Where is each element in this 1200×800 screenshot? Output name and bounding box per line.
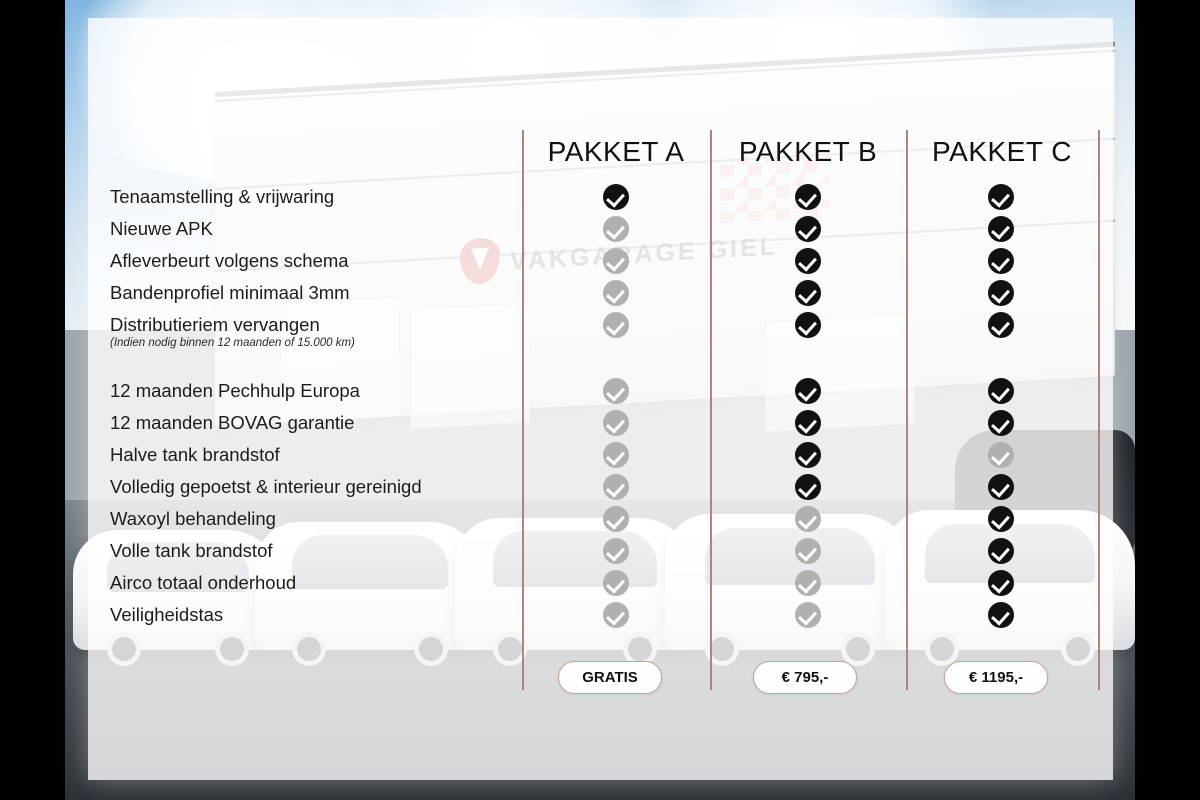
check-included-icon: [795, 312, 821, 338]
check-cell: [961, 213, 1041, 245]
check-included-icon: [988, 248, 1014, 274]
check-cell: [576, 567, 656, 599]
feature-label-column: Tenaamstelling & vrijwaring Nieuwe APK A…: [110, 181, 530, 631]
check-cell: [768, 439, 848, 471]
check-excluded-icon: [603, 248, 629, 274]
feature-footnote: (Indien nodig binnen 12 maanden of 15.00…: [110, 337, 530, 349]
check-cell: [961, 567, 1041, 599]
check-included-icon: [988, 410, 1014, 436]
feature-label: Afleverbeurt volgens schema: [110, 245, 530, 277]
feature-label: Volle tank brandstof: [110, 535, 530, 567]
check-excluded-icon: [795, 538, 821, 564]
check-excluded-icon: [603, 280, 629, 306]
check-column-pakket-a: [576, 181, 656, 631]
check-included-icon: [795, 410, 821, 436]
feature-label: Veiligheidstas: [110, 599, 530, 631]
column-separator: [1098, 130, 1100, 690]
check-included-icon: [795, 184, 821, 210]
check-cell: [961, 439, 1041, 471]
check-excluded-icon: [795, 602, 821, 628]
check-excluded-icon: [795, 506, 821, 532]
check-excluded-icon: [603, 570, 629, 596]
column-header-pakket-a: PAKKET A: [522, 136, 710, 168]
check-cell: [768, 599, 848, 631]
feature-label: Airco totaal onderhoud: [110, 567, 530, 599]
check-column-pakket-c: [961, 181, 1041, 631]
check-included-icon: [603, 184, 629, 210]
price-badge-pakket-b[interactable]: € 795,-: [753, 661, 857, 694]
column-separator: [710, 130, 712, 690]
check-included-icon: [988, 216, 1014, 242]
column-header-pakket-b: PAKKET B: [710, 136, 906, 168]
feature-label: Halve tank brandstof: [110, 439, 530, 471]
check-excluded-icon: [603, 602, 629, 628]
price-badge-pakket-a[interactable]: GRATIS: [558, 661, 662, 694]
feature-label: 12 maanden BOVAG garantie: [110, 407, 530, 439]
check-cell: [576, 439, 656, 471]
check-cell: [768, 503, 848, 535]
check-cell: [768, 375, 848, 407]
feature-label: Waxoyl behandeling: [110, 503, 530, 535]
check-cell: [768, 245, 848, 277]
check-cell: [961, 181, 1041, 213]
check-cell: [768, 535, 848, 567]
group-spacer: [768, 353, 848, 375]
check-excluded-icon: [795, 570, 821, 596]
footnote-spacer: [576, 337, 656, 349]
check-excluded-icon: [603, 216, 629, 242]
group-spacer: [110, 353, 530, 375]
check-included-icon: [988, 280, 1014, 306]
check-included-icon: [795, 248, 821, 274]
feature-label: 12 maanden Pechhulp Europa: [110, 375, 530, 407]
check-cell: [576, 375, 656, 407]
check-cell: [576, 471, 656, 503]
check-cell: [768, 277, 848, 309]
check-excluded-icon: [988, 442, 1014, 468]
check-cell: [961, 535, 1041, 567]
check-excluded-icon: [603, 538, 629, 564]
price-badge-pakket-c[interactable]: € 1195,-: [944, 661, 1048, 694]
feature-label: Tenaamstelling & vrijwaring: [110, 181, 530, 213]
group-spacer: [961, 353, 1041, 375]
check-included-icon: [795, 474, 821, 500]
check-included-icon: [795, 280, 821, 306]
check-cell: [576, 535, 656, 567]
feature-label: Volledig gepoetst & interieur gereinigd: [110, 471, 530, 503]
check-cell: [961, 407, 1041, 439]
check-cell: [961, 599, 1041, 631]
package-comparison-panel: PAKKET A PAKKET B PAKKET C Tenaamstellin…: [88, 18, 1113, 780]
feature-label: Nieuwe APK: [110, 213, 530, 245]
check-included-icon: [988, 570, 1014, 596]
check-included-icon: [795, 216, 821, 242]
check-cell: [768, 407, 848, 439]
check-cell: [768, 213, 848, 245]
check-excluded-icon: [603, 506, 629, 532]
check-included-icon: [988, 378, 1014, 404]
check-cell: [768, 567, 848, 599]
check-excluded-icon: [603, 312, 629, 338]
check-included-icon: [988, 474, 1014, 500]
group-spacer: [576, 353, 656, 375]
column-header-pakket-c: PAKKET C: [906, 136, 1098, 168]
letterbox-bar-left: [0, 0, 65, 800]
check-cell: [768, 181, 848, 213]
check-excluded-icon: [603, 410, 629, 436]
check-included-icon: [795, 378, 821, 404]
footnote-spacer: [961, 337, 1041, 349]
letterbox-bar-right: [1135, 0, 1200, 800]
check-included-icon: [795, 442, 821, 468]
check-cell: [576, 599, 656, 631]
feature-label: Bandenprofiel minimaal 3mm: [110, 277, 530, 309]
check-cell: [961, 245, 1041, 277]
check-excluded-icon: [603, 442, 629, 468]
check-cell: [576, 503, 656, 535]
check-cell: [961, 277, 1041, 309]
check-cell: [961, 471, 1041, 503]
check-included-icon: [988, 184, 1014, 210]
check-cell: [576, 277, 656, 309]
check-included-icon: [988, 602, 1014, 628]
check-cell: [768, 471, 848, 503]
check-cell: [961, 503, 1041, 535]
check-cell: [576, 407, 656, 439]
check-cell: [961, 375, 1041, 407]
check-included-icon: [988, 538, 1014, 564]
column-separator: [906, 130, 908, 690]
check-included-icon: [988, 312, 1014, 338]
check-cell: [576, 181, 656, 213]
check-column-pakket-b: [768, 181, 848, 631]
check-excluded-icon: [603, 378, 629, 404]
footnote-spacer: [768, 337, 848, 349]
check-included-icon: [988, 506, 1014, 532]
check-excluded-icon: [603, 474, 629, 500]
check-cell: [576, 245, 656, 277]
check-cell: [576, 213, 656, 245]
